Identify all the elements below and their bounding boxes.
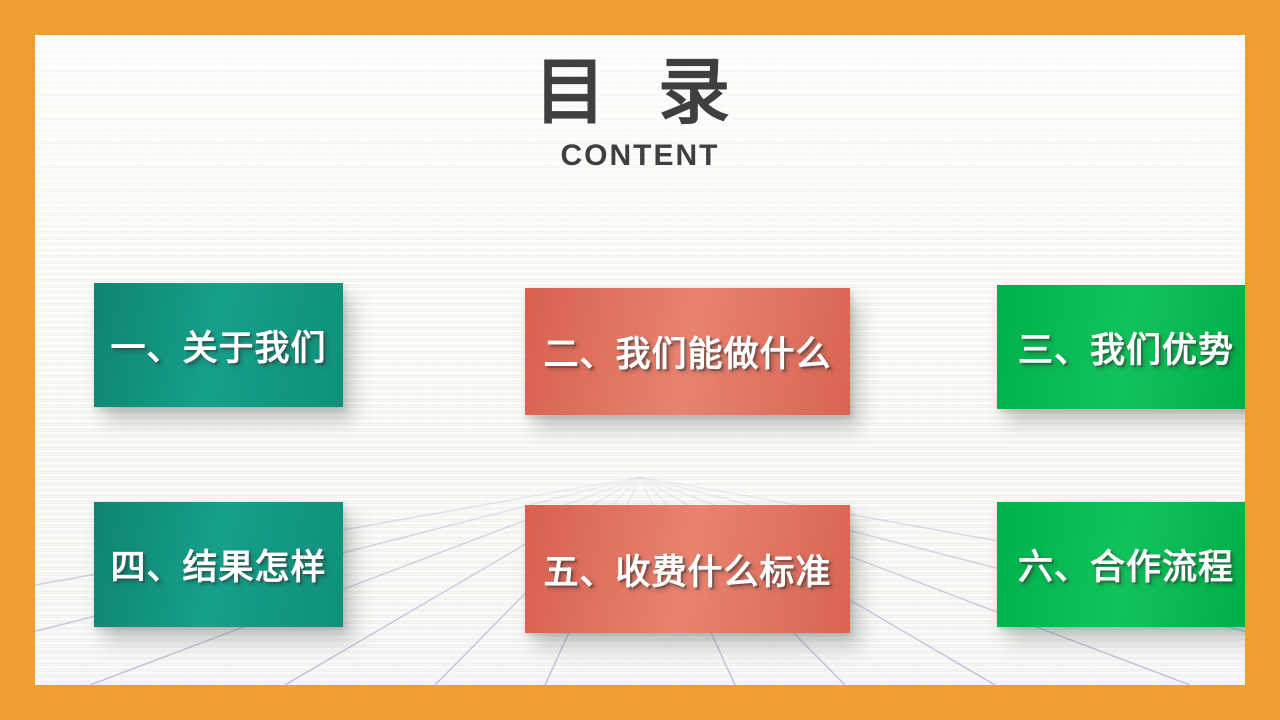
slide-paper-panel: 目 录 CONTENT 一、关于我们 二、我们能做什么 三、我们优势 四、结果怎…: [35, 35, 1245, 685]
page-subtitle: CONTENT: [35, 139, 1245, 173]
toc-card-3[interactable]: 三、我们优势: [997, 285, 1245, 409]
toc-card-1[interactable]: 一、关于我们: [94, 283, 343, 407]
toc-card-4[interactable]: 四、结果怎样: [94, 502, 343, 627]
toc-card-4-label: 四、结果怎样: [110, 539, 326, 590]
toc-card-6[interactable]: 六、合作流程: [997, 502, 1245, 627]
toc-card-5[interactable]: 五、收费什么标准: [525, 505, 850, 633]
toc-card-1-label: 一、关于我们: [110, 320, 326, 371]
toc-card-2[interactable]: 二、我们能做什么: [525, 288, 850, 415]
toc-card-6-label: 六、合作流程: [1018, 539, 1234, 590]
toc-card-3-label: 三、我们优势: [1018, 322, 1234, 373]
toc-card-2-label: 二、我们能做什么: [543, 326, 831, 377]
slide-heading: 目 录 CONTENT: [35, 55, 1245, 173]
slide-canvas: 目 录 CONTENT 一、关于我们 二、我们能做什么 三、我们优势 四、结果怎…: [0, 0, 1280, 720]
page-title: 目 录: [35, 55, 1245, 133]
toc-card-5-label: 五、收费什么标准: [543, 544, 831, 595]
